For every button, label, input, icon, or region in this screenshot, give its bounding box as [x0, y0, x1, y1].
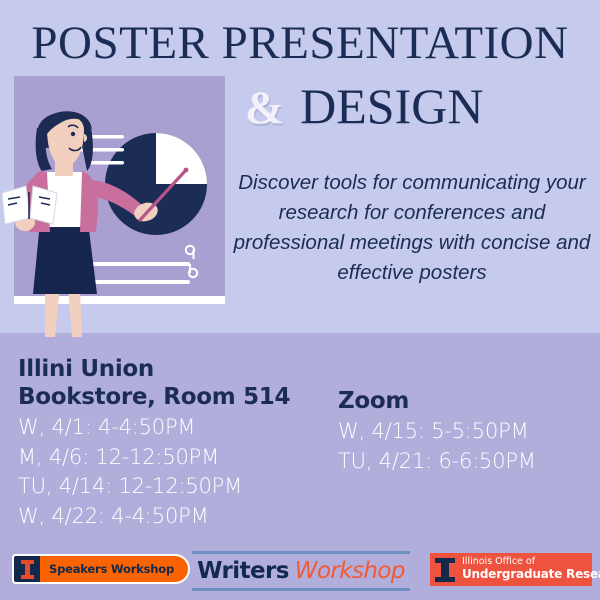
title-design-word: DESIGN	[300, 78, 483, 134]
session-list-zoom: W, 4/15: 5-5:50PM TU, 4/21: 6-6:50PM	[338, 417, 588, 476]
poster-canvas: POSTER PRESENTATION &DESIGN Discover too…	[0, 0, 600, 600]
page-title-line-2: &DESIGN	[245, 78, 600, 136]
page-title-line-1: POSTER PRESENTATION	[0, 17, 600, 69]
session-item: W, 4/22: 4-4:50PM	[18, 502, 338, 532]
session-item: M, 4/6: 12-12:50PM	[18, 443, 338, 473]
ugr-line-2: Undergraduate Research	[462, 568, 600, 581]
venue-title-in-person: Illini Union Bookstore, Room 514	[18, 355, 338, 411]
ugr-text-block: Illinois Office of Undergraduate Researc…	[462, 557, 600, 581]
schedule-section: Illini Union Bookstore, Room 514 W, 4/1:…	[18, 355, 588, 531]
session-item: W, 4/15: 5-5:50PM	[338, 417, 588, 447]
venue-title-zoom: Zoom	[338, 387, 588, 415]
ampersand-glyph: &	[245, 82, 284, 134]
presenter-illustration	[0, 72, 232, 337]
footer-logo-bar: Speakers Workshop WritersWorkshop Illino…	[0, 548, 600, 600]
venue-line: Illini Union	[18, 355, 338, 383]
session-item: W, 4/1: 4-4:50PM	[18, 413, 338, 443]
session-list-in-person: W, 4/1: 4-4:50PM M, 4/6: 12-12:50PM TU, …	[18, 413, 338, 531]
speakers-workshop-label: Speakers Workshop	[40, 556, 188, 582]
figure-legs	[45, 287, 60, 337]
poster-description: Discover tools for communicating your re…	[228, 168, 596, 288]
undergraduate-research-logo: Illinois Office of Undergraduate Researc…	[430, 553, 592, 586]
writers-workshop-logo: WritersWorkshop	[192, 551, 410, 591]
speakers-workshop-logo: Speakers Workshop	[12, 554, 190, 584]
workshop-word: Workshop	[295, 558, 405, 584]
figure-skirt	[33, 222, 97, 294]
venue-line: Bookstore, Room 514	[18, 383, 338, 411]
illinois-block-i-icon	[435, 558, 455, 582]
schedule-column-zoom: Zoom W, 4/15: 5-5:50PM TU, 4/21: 6-6:50P…	[338, 355, 588, 531]
writers-word: Writers	[197, 558, 289, 584]
venue-line: Zoom	[338, 387, 588, 415]
session-item: TU, 4/14: 12-12:50PM	[18, 472, 338, 502]
session-item: TU, 4/21: 6-6:50PM	[338, 447, 588, 477]
illinois-block-i-icon	[14, 556, 40, 582]
schedule-column-in-person: Illini Union Bookstore, Room 514 W, 4/1:…	[18, 355, 338, 531]
